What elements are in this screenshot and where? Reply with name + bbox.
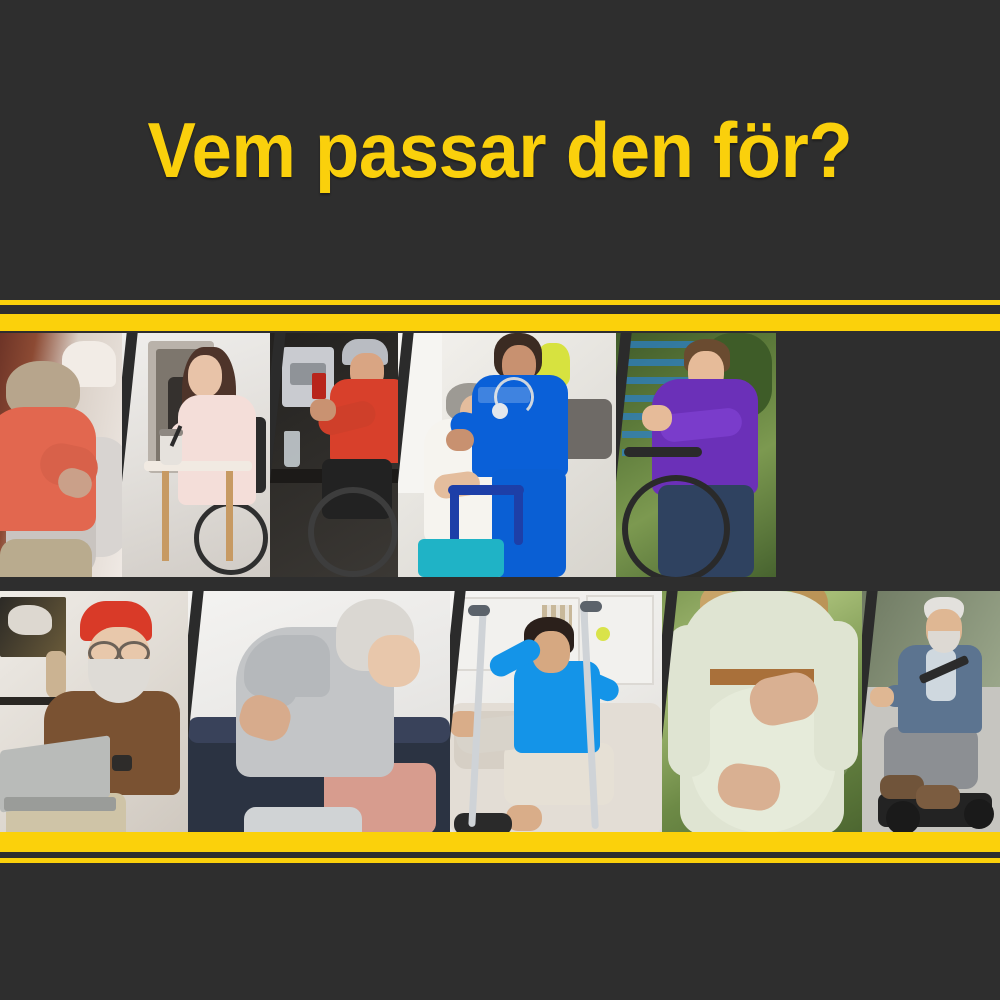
headline-area: Vem passar den för?: [0, 0, 1000, 300]
photo-leg-cast-crutches: [450, 591, 662, 835]
promo-banner: Vem passar den för?: [0, 0, 1000, 1000]
photo-scene: [662, 591, 862, 835]
photo-scene: [862, 591, 1000, 835]
page-title: Vem passar den för?: [148, 111, 853, 189]
photo-senior-backache: [188, 591, 450, 835]
photo-scene: [0, 591, 188, 835]
bottom-thick-divider: [0, 832, 1000, 852]
top-thin-divider: [0, 300, 1000, 305]
photo-scene: [188, 591, 450, 835]
photo-workshop: [270, 333, 398, 577]
photo-scene: [270, 333, 398, 577]
photo-scene: [398, 333, 616, 577]
bottom-photo-strip: [0, 591, 1000, 835]
bottom-thin-divider: [0, 858, 1000, 863]
photo-scene: [122, 333, 270, 577]
top-thick-divider: [0, 314, 1000, 331]
photo-pregnant-woman: [662, 591, 862, 835]
photo-scene: [450, 591, 662, 835]
photo-senior-laptop: [0, 591, 188, 835]
photo-power-wheelchair: [862, 591, 1000, 835]
photo-scene: [616, 333, 776, 577]
photo-scene: [0, 333, 122, 577]
photo-nurse-assisting: [398, 333, 616, 577]
photo-back-pain: [0, 333, 122, 577]
photo-desk-writer: [122, 333, 270, 577]
top-photo-strip: [0, 333, 1000, 577]
photo-wheelchair-stretch: [616, 333, 776, 577]
